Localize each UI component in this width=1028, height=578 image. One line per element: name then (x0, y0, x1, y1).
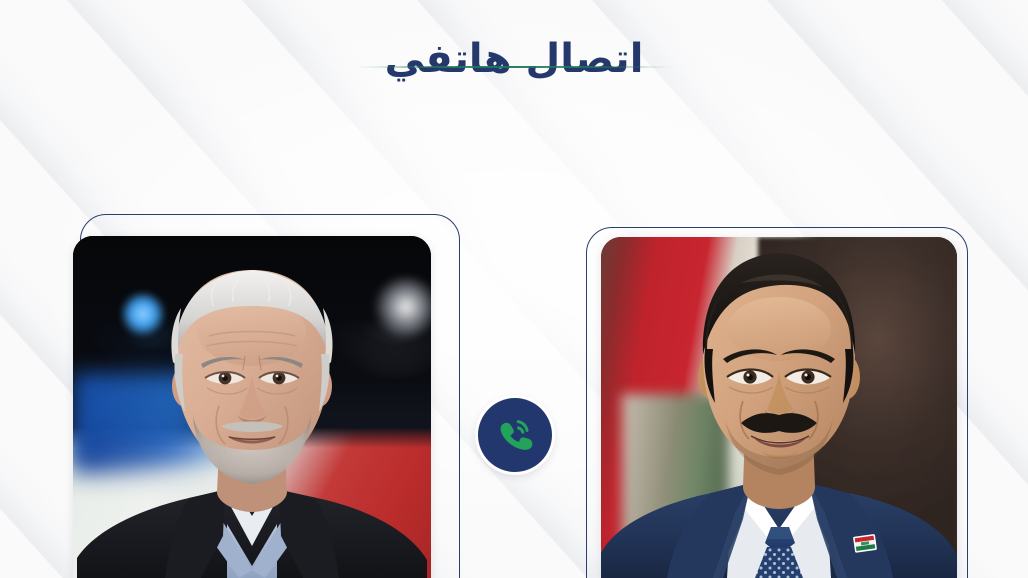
portrait-card-right (576, 214, 984, 578)
right-subject-figure (601, 237, 957, 578)
phone-call-icon-badge (478, 398, 552, 472)
page-title: اتصال هاتفي (385, 36, 644, 83)
portrait-photo-left (73, 236, 431, 578)
flag-lapel-pin (853, 534, 877, 553)
page-title-wrap: اتصال هاتفي (0, 36, 1028, 83)
left-subject-figure (73, 236, 431, 578)
portrait-card-left (60, 214, 460, 578)
phone-call-icon (493, 413, 537, 457)
poster-canvas: اتصال هاتفي (0, 0, 1028, 578)
portrait-photo-right (601, 237, 957, 578)
title-underline-rule (354, 66, 674, 68)
